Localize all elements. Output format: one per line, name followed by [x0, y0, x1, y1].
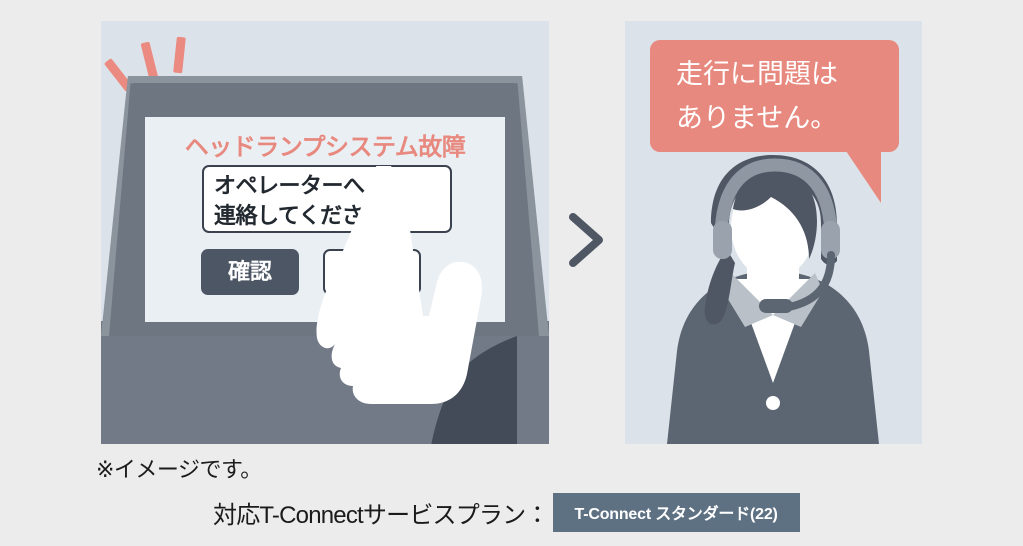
speech-bubble-line-2: ありません。 [676, 96, 899, 140]
speech-bubble-text: 走行に問題は ありません。 [650, 40, 899, 140]
jacket-button-1 [766, 352, 780, 366]
illustration-stage: ヘッドランプシステム故障 オペレーターへ 連絡してください。 確認 閉じる [0, 0, 1023, 546]
confirm-button[interactable]: 確認 [201, 249, 299, 295]
alert-title: ヘッドランプシステム故障 [145, 127, 505, 162]
chevron-right-icon [565, 212, 609, 268]
plan-footer: 対応T-Connectサービスプラン： T-Connect スタンダード(22) [213, 493, 800, 532]
plan-badge: T-Connect スタンダード(22) [553, 493, 800, 532]
jacket-button-2 [766, 396, 780, 410]
plan-label: 対応T-Connectサービスプラン： [213, 495, 549, 530]
flash-mark-3 [173, 37, 186, 74]
speech-bubble: 走行に問題は ありません。 [650, 40, 899, 152]
pointing-hand-icon [311, 166, 531, 444]
flash-mark-2 [141, 41, 159, 80]
left-scene-panel: ヘッドランプシステム故障 オペレーターへ 連絡してください。 確認 閉じる [101, 21, 549, 444]
speech-bubble-line-1: 走行に問題は [676, 52, 899, 96]
right-scene-panel: 走行に問題は ありません。 [625, 21, 922, 444]
image-disclaimer-note: ※イメージです。 [96, 452, 262, 484]
speech-bubble-tail [830, 151, 881, 203]
